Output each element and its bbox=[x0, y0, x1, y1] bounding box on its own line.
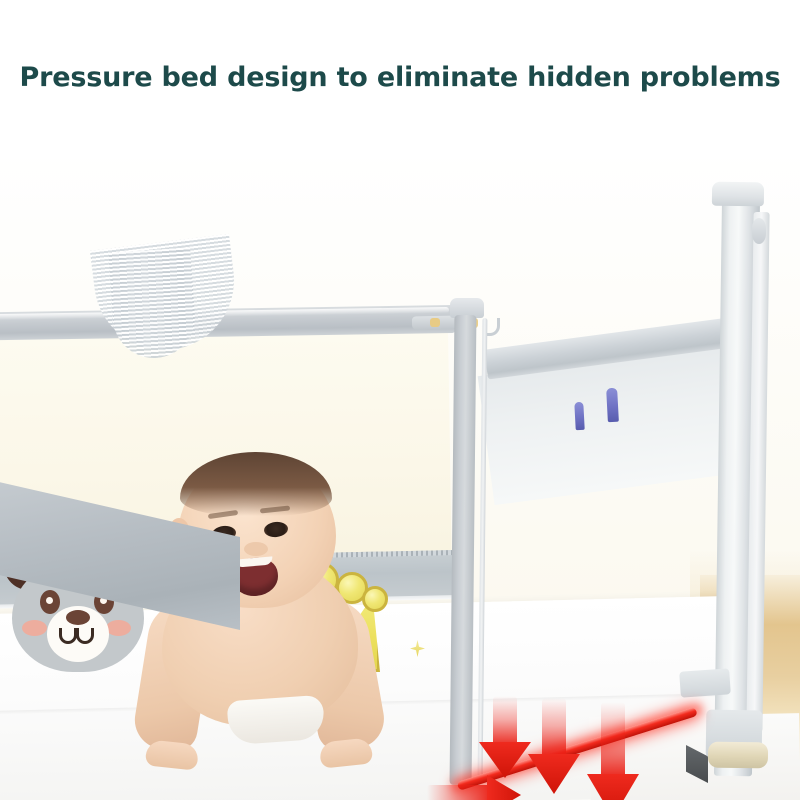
bear-cheek-right bbox=[106, 620, 131, 636]
bear-mouth-left-curve bbox=[59, 628, 77, 644]
rail-mount-clip bbox=[679, 668, 731, 697]
arrow-tail bbox=[542, 698, 566, 760]
bear-mouth-right-curve bbox=[76, 628, 94, 644]
support-post-foot-pad bbox=[708, 742, 768, 769]
pressure-arrow-right-1 bbox=[427, 775, 521, 800]
product-photo bbox=[0, 150, 800, 800]
product-marketing-image: Pressure bed design to eliminate hidden … bbox=[0, 0, 800, 800]
bear-mouth bbox=[59, 628, 97, 648]
lock-tab-icon-2[interactable] bbox=[606, 388, 619, 423]
hinge-accent-left bbox=[430, 318, 440, 327]
support-post-knob bbox=[752, 218, 766, 244]
page-title: Pressure bed design to eliminate hidden … bbox=[0, 62, 800, 93]
bear-cheek-left bbox=[22, 620, 47, 636]
baby-nose bbox=[244, 542, 268, 556]
arrow-head bbox=[487, 775, 521, 800]
bear-eye-left bbox=[40, 590, 60, 614]
support-post-cap bbox=[712, 182, 764, 207]
lock-tab-icon-1[interactable] bbox=[574, 402, 584, 430]
arrow-tail bbox=[493, 696, 517, 748]
baby-hair bbox=[180, 452, 332, 516]
bear-nose bbox=[66, 610, 90, 625]
arrow-tail bbox=[427, 785, 493, 800]
arrow-tail bbox=[601, 702, 625, 780]
baby-diaper bbox=[227, 695, 326, 746]
baby-subject bbox=[140, 450, 400, 800]
